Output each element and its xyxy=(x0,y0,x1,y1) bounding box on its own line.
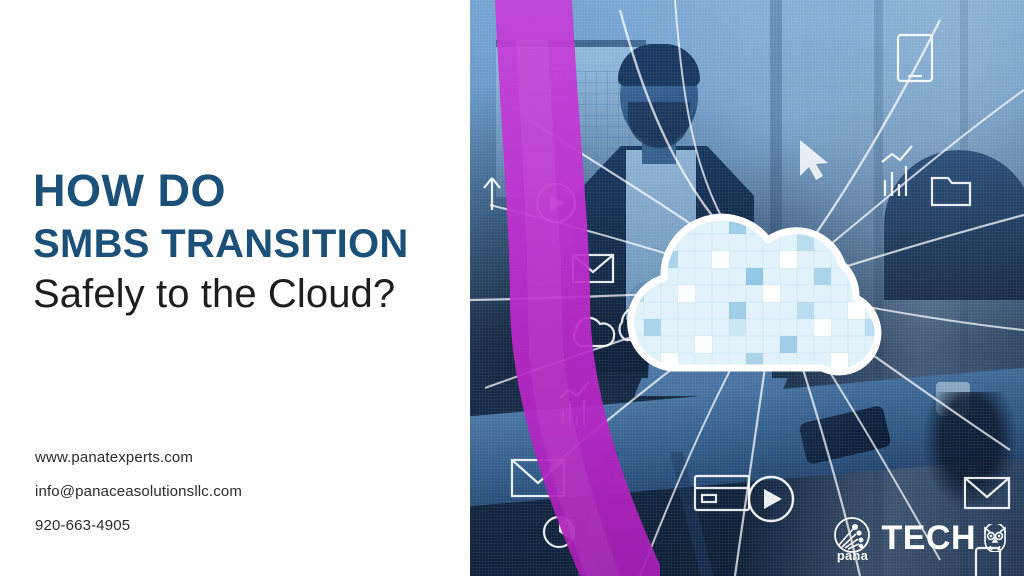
contact-email[interactable]: info@panaceasolutionsllc.com xyxy=(35,484,242,499)
contact-website[interactable]: www.panatexperts.com xyxy=(35,450,242,465)
owl-icon xyxy=(982,524,1008,552)
headline-line-2: SMBS TRANSITION xyxy=(33,224,409,264)
panatech-logo[interactable]: pana TECH xyxy=(829,512,1008,564)
headline-line-1: HOW DO xyxy=(33,168,409,213)
headline-block: HOW DO SMBS TRANSITION Safely to the Clo… xyxy=(33,168,409,315)
text-panel: HOW DO SMBS TRANSITION Safely to the Clo… xyxy=(0,0,520,576)
play-button-icon xyxy=(749,477,793,521)
contact-phone[interactable]: 920-663-4905 xyxy=(35,518,242,533)
pana-circuit-mark-icon: pana xyxy=(829,515,875,561)
contact-block: www.panatexperts.com info@panaceasolutio… xyxy=(35,450,242,533)
marketing-banner: HOW DO SMBS TRANSITION Safely to the Clo… xyxy=(0,0,1024,576)
logo-wordmark-tech: TECH xyxy=(881,521,976,555)
logo-wordmark-pana: pana xyxy=(829,548,875,563)
headline-line-3: Safely to the Cloud? xyxy=(33,273,409,315)
